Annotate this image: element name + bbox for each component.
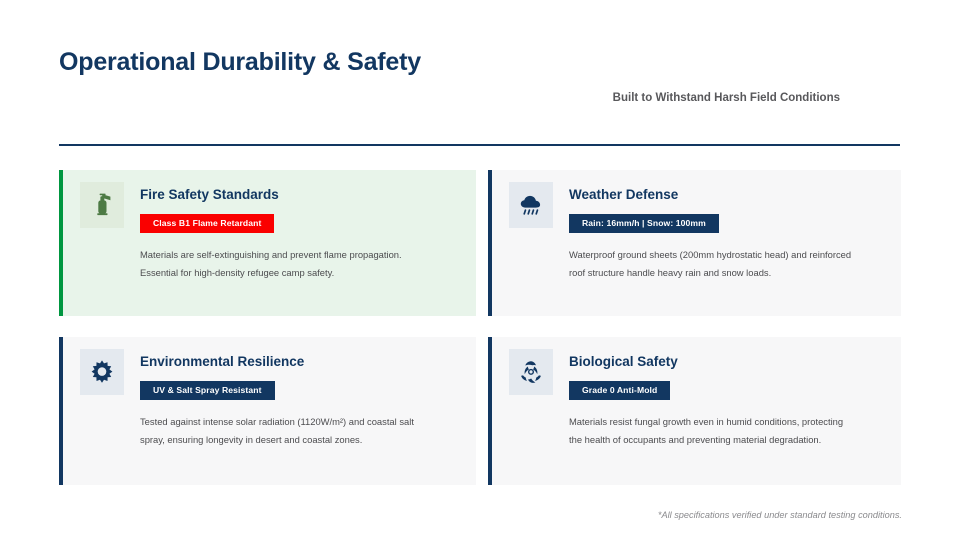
description-line: Essential for high-density refugee camp …: [140, 264, 460, 282]
card-body: Environmental Resilience UV & Salt Spray…: [63, 337, 476, 485]
card-description: Waterproof ground sheets (200mm hydrosta…: [569, 246, 885, 283]
status-badge: Class B1 Flame Retardant: [140, 214, 274, 233]
card-description: Tested against intense solar radiation (…: [140, 413, 460, 450]
card-body: Weather Defense Rain: 16mm/h | Snow: 100…: [492, 170, 901, 316]
header-divider: [59, 144, 900, 146]
card-weather-defense: Weather Defense Rain: 16mm/h | Snow: 100…: [488, 170, 901, 316]
description-line: roof structure handle heavy rain and sno…: [569, 264, 885, 282]
card-title: Weather Defense: [569, 187, 678, 202]
description-line: the health of occupants and preventing m…: [569, 431, 885, 449]
slide-canvas: Operational Durability & Safety Built to…: [0, 0, 960, 540]
description-line: spray, ensuring longevity in desert and …: [140, 431, 460, 449]
description-line: Waterproof ground sheets (200mm hydrosta…: [569, 246, 885, 264]
status-badge: UV & Salt Spray Resistant: [140, 381, 275, 400]
card-body: Fire Safety Standards Class B1 Flame Ret…: [63, 170, 476, 316]
description-line: Materials resist fungal growth even in h…: [569, 413, 885, 431]
card-title: Biological Safety: [569, 354, 678, 369]
card-body: Biological Safety Grade 0 Anti-Mold Mate…: [492, 337, 901, 485]
card-biological-safety: Biological Safety Grade 0 Anti-Mold Mate…: [488, 337, 901, 485]
footer-note: *All specifications verified under stand…: [658, 510, 902, 520]
page-subtitle: Built to Withstand Harsh Field Condition…: [613, 92, 840, 104]
card-description: Materials are self-extinguishing and pre…: [140, 246, 460, 283]
card-fire-safety-standards: Fire Safety Standards Class B1 Flame Ret…: [59, 170, 476, 316]
biohazard-icon: [509, 349, 553, 395]
card-description: Materials resist fungal growth even in h…: [569, 413, 885, 450]
status-badge: Grade 0 Anti-Mold: [569, 381, 670, 400]
card-title: Fire Safety Standards: [140, 187, 279, 202]
rain-cloud-icon: [509, 182, 553, 228]
card-environmental-resilience: Environmental Resilience UV & Salt Spray…: [59, 337, 476, 485]
status-badge: Rain: 16mm/h | Snow: 100mm: [569, 214, 719, 233]
description-line: Tested against intense solar radiation (…: [140, 413, 460, 431]
page-title: Operational Durability & Safety: [59, 48, 421, 77]
fire-extinguisher-icon: [80, 182, 124, 228]
description-line: Materials are self-extinguishing and pre…: [140, 246, 460, 264]
card-title: Environmental Resilience: [140, 354, 304, 369]
sun-gear-icon: [80, 349, 124, 395]
